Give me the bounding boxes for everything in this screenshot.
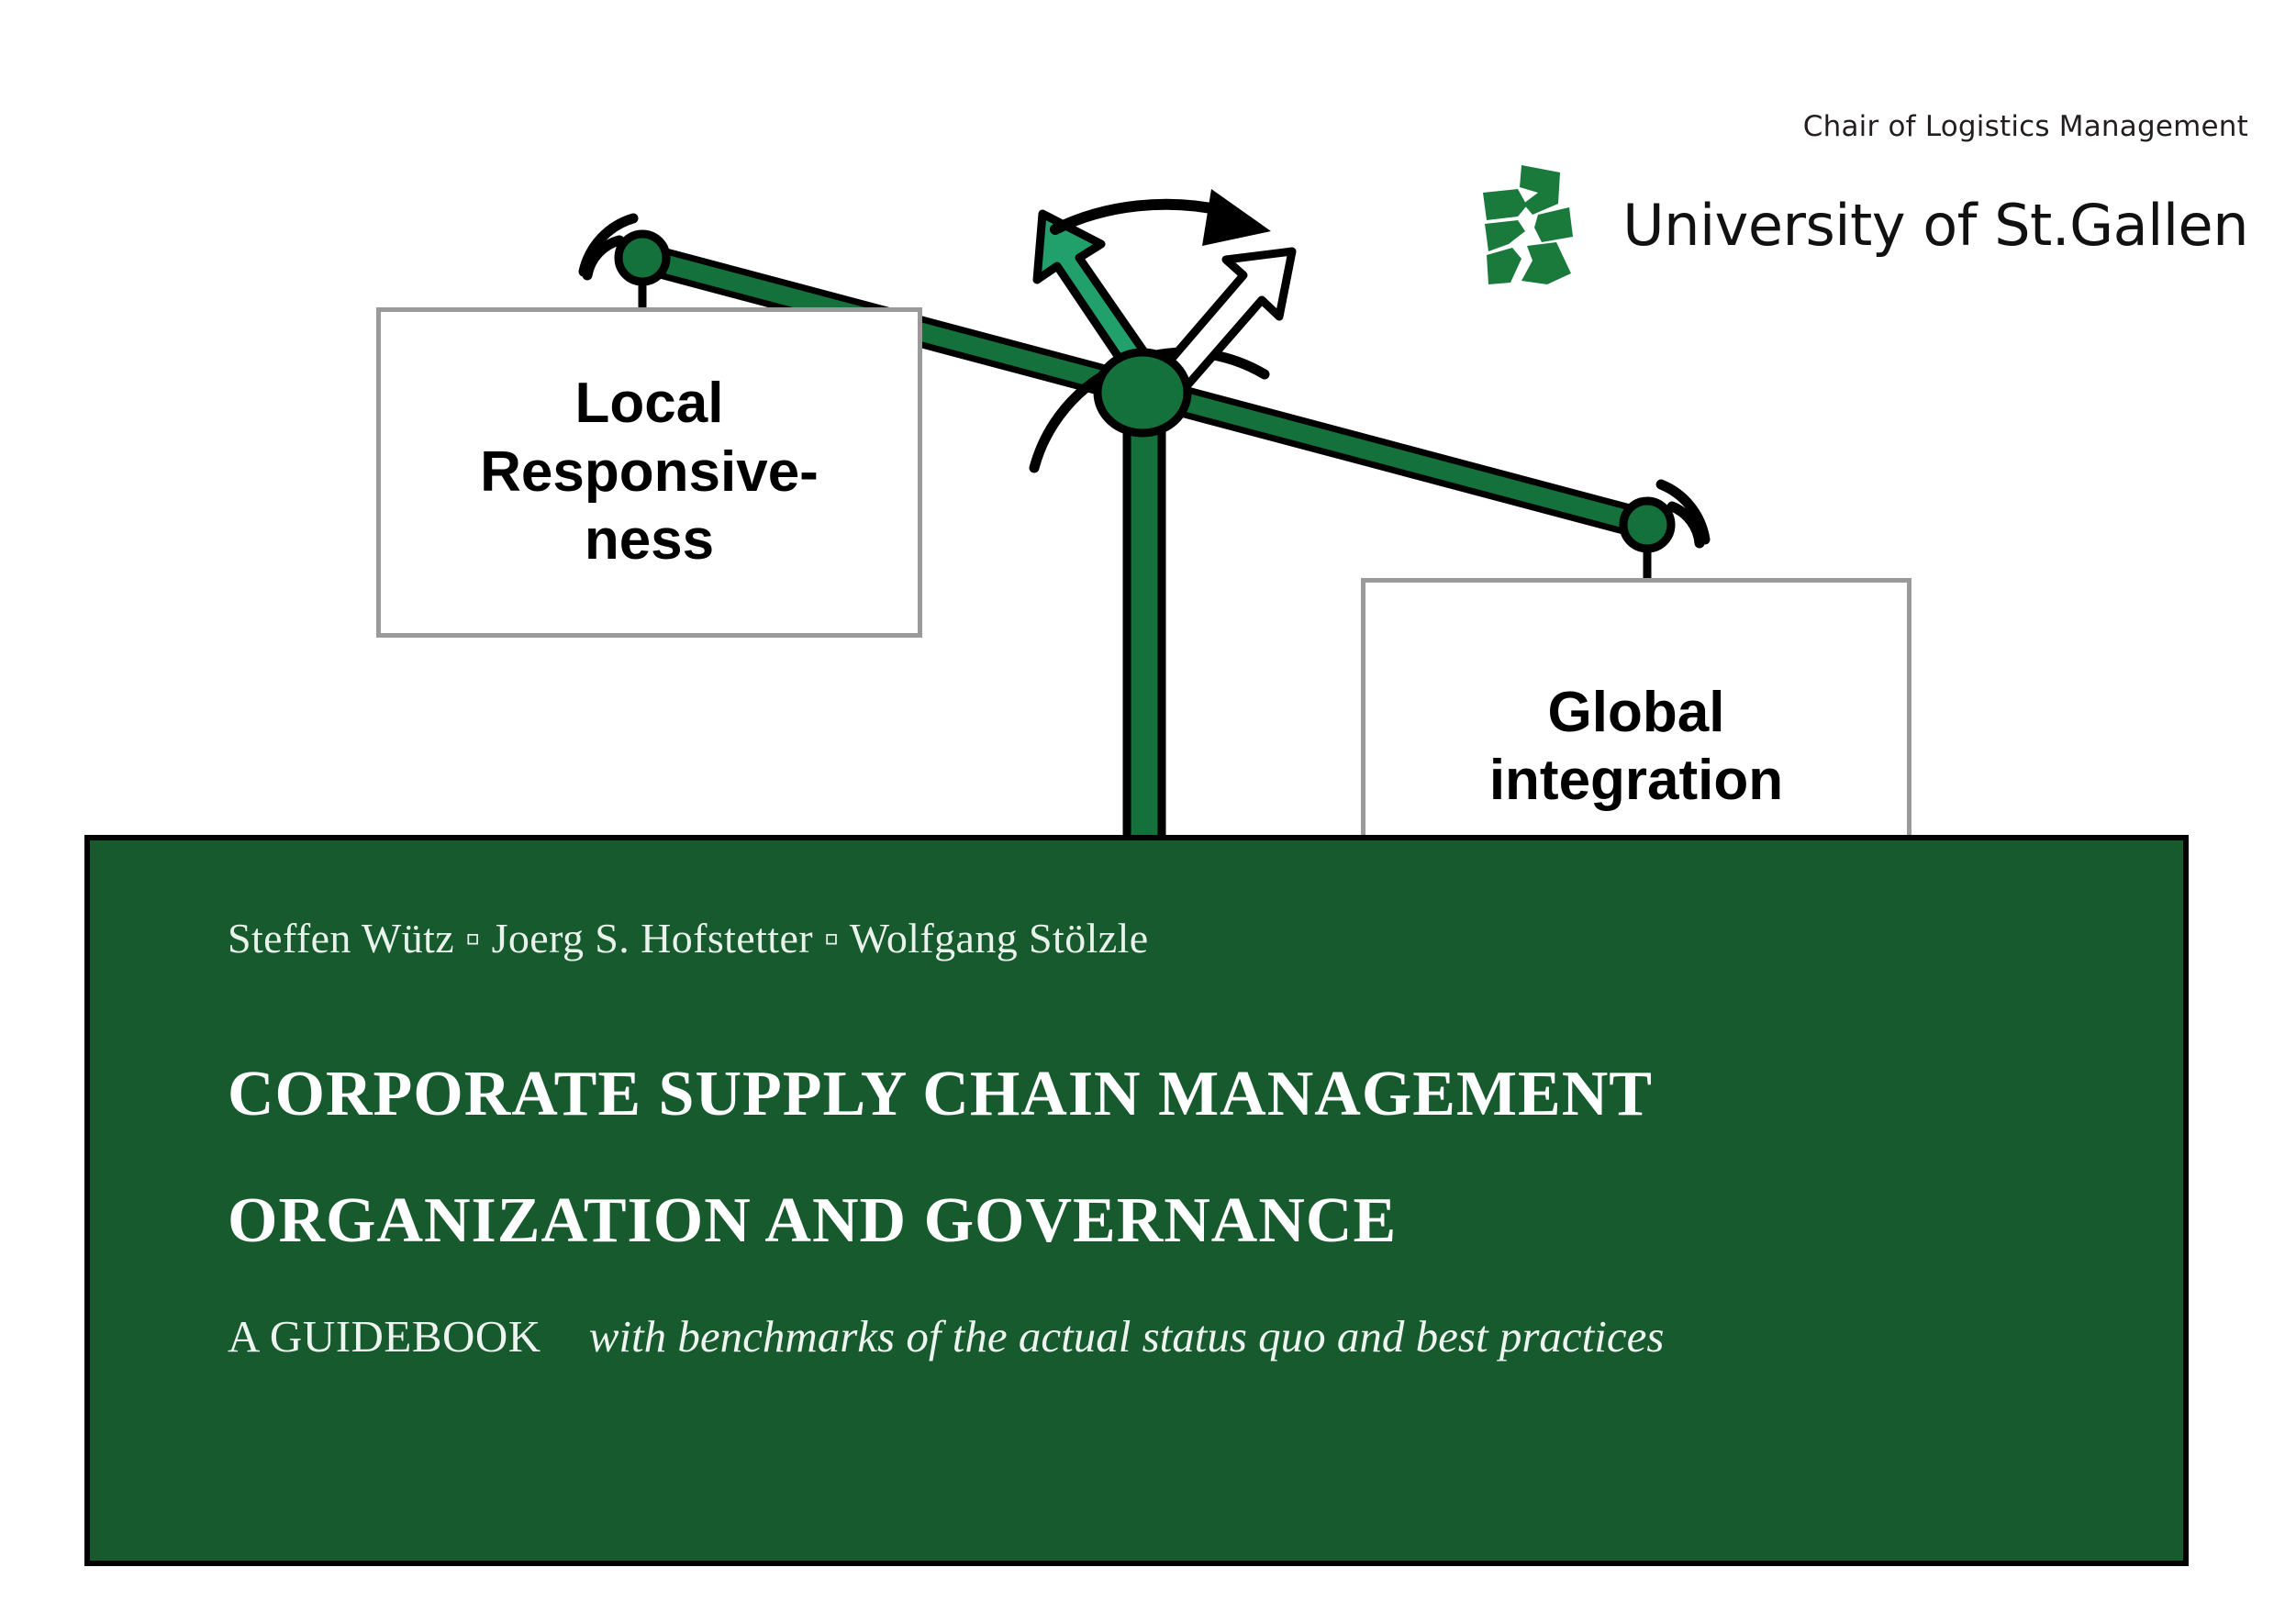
subtitle-lead: A GUIDEBOOK (228, 1311, 541, 1362)
cover-page: Local Responsive- ness Global integratio… (0, 0, 2296, 1623)
chair-label: Chair of Logistics Management (1803, 110, 2248, 143)
author-line: Steffen Wütz ▫ Joerg S. Hofstetter ▫ Wol… (228, 914, 1149, 962)
label-box-local-text: Local Responsive- ness (480, 370, 819, 574)
rotation-arc (1034, 352, 1265, 468)
logo-row: University of St.Gallen (1481, 163, 2248, 287)
global-integration-arrow (1142, 251, 1292, 415)
tilt-direction-arrow (1055, 189, 1271, 246)
university-label: University of St.Gallen (1622, 192, 2248, 259)
right-sensor-node (1623, 501, 1671, 549)
university-crest-icon (1481, 163, 1599, 287)
subtitle-rest: with benchmarks of the actual status quo… (589, 1311, 1665, 1362)
page-title-line-1: CORPORATE SUPPLY CHAIN MANAGEMENT (228, 1058, 1653, 1131)
support-post (1127, 385, 1162, 840)
label-box-global-text: Global integration (1489, 679, 1783, 816)
left-sensor-node (619, 234, 666, 282)
local-responsiveness-arrow (1037, 214, 1164, 393)
cover-panel: Steffen Wütz ▫ Joerg S. Hofstetter ▫ Wol… (84, 835, 2189, 1566)
pivot-hub (1098, 352, 1187, 433)
right-signal-icon (1661, 484, 1705, 543)
page-title-line-2: ORGANIZATION AND GOVERNANCE (228, 1184, 1397, 1258)
label-box-local-responsiveness: Local Responsive- ness (376, 307, 922, 638)
university-branding: Chair of Logistics Management University… (1624, 110, 2248, 312)
subtitle-line: A GUIDEBOOKwith benchmarks of the actual… (228, 1310, 1664, 1362)
left-signal-icon (584, 218, 633, 275)
